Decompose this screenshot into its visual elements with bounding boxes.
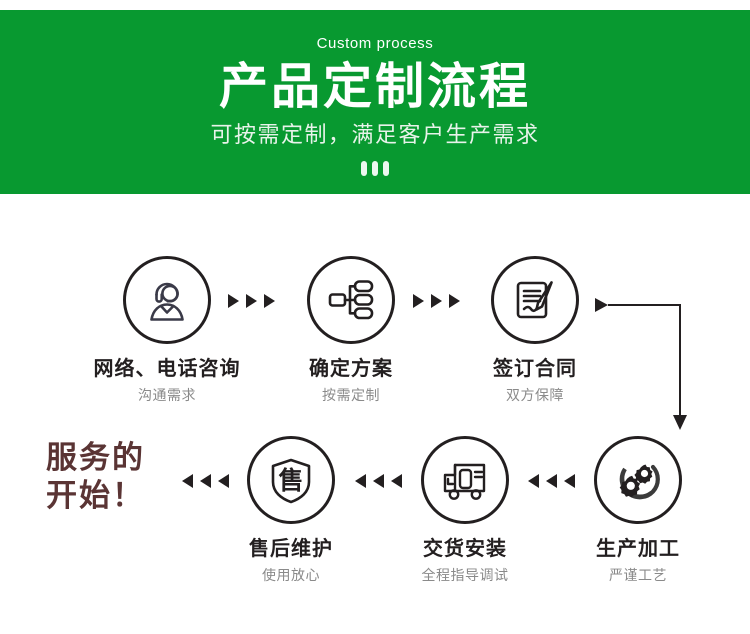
triangle-left-icon [528, 474, 539, 488]
triangle-right-icon [246, 294, 257, 308]
step-title: 确定方案 [266, 358, 436, 380]
gears-production-icon [594, 436, 682, 524]
step-title: 售后维护 [206, 538, 376, 560]
service-start-line2: 开始！ [46, 477, 145, 515]
triangle-right-icon [228, 294, 239, 308]
header-subtitle: 可按需定制，满足客户生产需求 [0, 124, 750, 146]
step-title: 生产加工 [553, 538, 723, 560]
shield-after-sales-icon: 售 [247, 436, 335, 524]
triangle-right-icon [431, 294, 442, 308]
shield-glyph: 售 [278, 466, 303, 495]
step-node-production[interactable]: 生产加工 严谨工艺 [553, 436, 723, 583]
step-title: 交货安装 [380, 538, 550, 560]
step-node-after-sales[interactable]: 售 售后维护 使用放心 [206, 436, 376, 583]
step-node-plan[interactable]: 确定方案 按需定制 [266, 256, 436, 403]
triangle-down-icon [673, 415, 687, 430]
step-node-delivery[interactable]: 交货安装 全程指导调试 [380, 436, 550, 583]
header-banner: Custom process 产品定制流程 可按需定制，满足客户生产需求 [0, 10, 750, 194]
contract-signing-icon [491, 256, 579, 344]
flowchart-icon [307, 256, 395, 344]
header-eyebrow: Custom process [0, 36, 750, 51]
l-shaped-connector-arrow [594, 289, 694, 439]
step-title: 网络、电话咨询 [82, 358, 252, 380]
delivery-truck-icon [421, 436, 509, 524]
process-flow-diagram: 网络、电话咨询 沟通需求 确定方案 按需定制 [0, 194, 750, 634]
bar-3 [383, 161, 389, 176]
triangle-left-icon [182, 474, 193, 488]
service-start-label: 服务的 开始！ [46, 439, 145, 515]
triangle-right-icon [413, 294, 424, 308]
step-subtitle: 全程指导调试 [380, 568, 550, 583]
step-node-consult[interactable]: 网络、电话咨询 沟通需求 [82, 256, 252, 403]
three-bars-icon [0, 161, 750, 176]
service-start-line1: 服务的 [46, 439, 145, 477]
triangle-right-icon [595, 298, 608, 312]
step-subtitle: 使用放心 [206, 568, 376, 583]
step-subtitle: 沟通需求 [82, 388, 252, 403]
bar-2 [372, 161, 378, 176]
page-title: 产品定制流程 [0, 62, 750, 113]
triangle-left-icon [355, 474, 366, 488]
step-subtitle: 严谨工艺 [553, 568, 723, 583]
bar-1 [361, 161, 367, 176]
headset-person-icon [123, 256, 211, 344]
step-subtitle: 按需定制 [266, 388, 436, 403]
